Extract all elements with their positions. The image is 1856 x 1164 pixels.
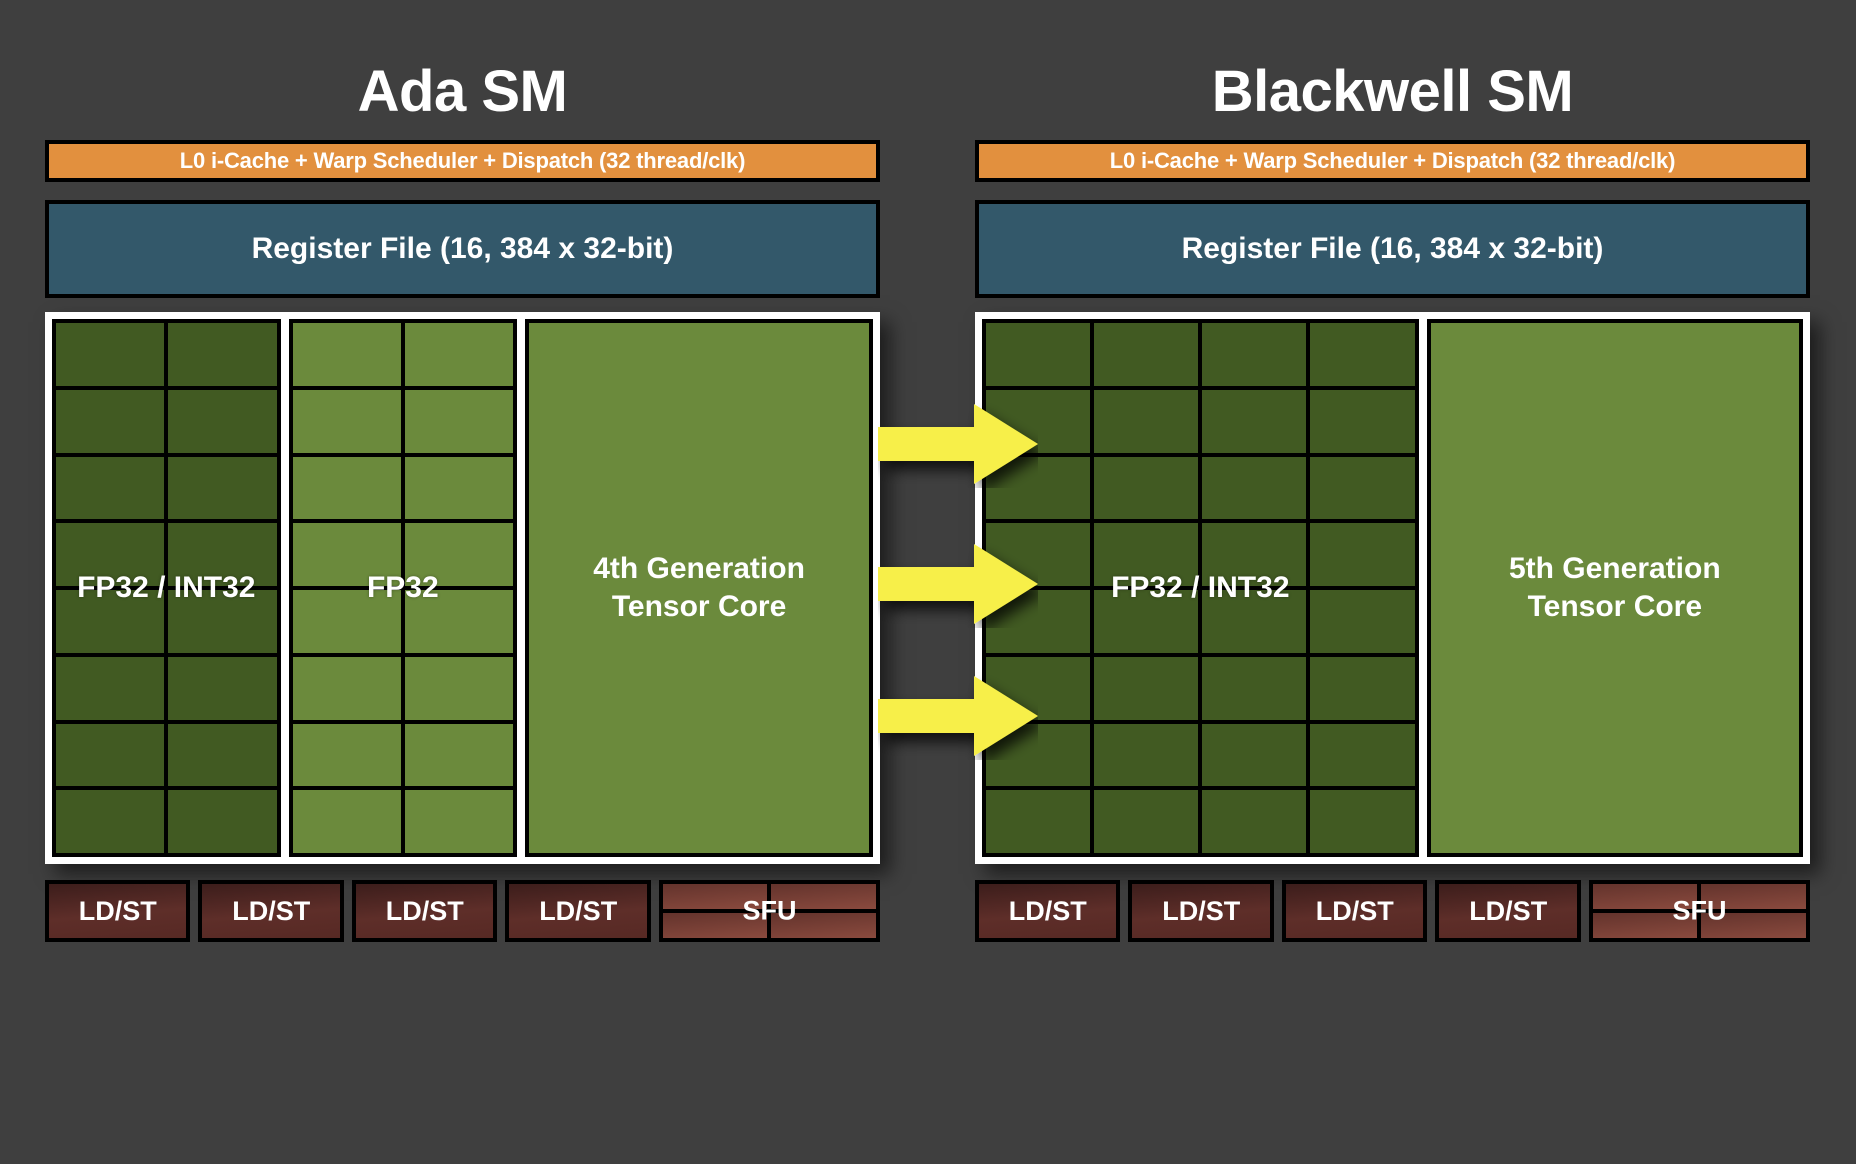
core-container-ada: FP32 / INT32 FP32 4th Generation Tensor … [45,312,880,864]
page-title-blackwell-sm: Blackwell SM [975,58,1810,125]
core-cell [405,390,513,453]
ldst-unit-blackwell-4-label: LD/ST [1469,896,1547,927]
core-cell [405,590,513,653]
tensor-core-blackwell-label-line2: Tensor Core [1528,590,1702,623]
core-cell [1094,457,1198,520]
core-cell [293,724,401,787]
ldst-unit-blackwell-4: LD/ST [1435,880,1580,942]
tensor-core-ada-label-line2: Tensor Core [612,590,786,623]
core-cell [1310,657,1414,720]
core-grid-fp32-int32-blackwell [982,319,1419,857]
core-cell [405,457,513,520]
core-cell [1202,724,1306,787]
core-cell [168,790,276,853]
core-cell [56,790,164,853]
transition-arrow-icon [878,540,1038,628]
ldst-unit-blackwell-3-label: LD/ST [1316,896,1394,927]
core-cell [1310,457,1414,520]
core-cell [168,590,276,653]
ldst-unit-ada-4-label: LD/ST [539,896,617,927]
core-cell [1202,323,1306,386]
transition-arrow-icon [878,400,1038,488]
core-cell [405,790,513,853]
core-cell [168,390,276,453]
register-file-ada-label: Register File (16, 384 x 32-bit) [252,232,674,266]
sfu-cell [1593,884,1698,909]
register-file-blackwell-label: Register File (16, 384 x 32-bit) [1182,232,1604,266]
register-file-ada: Register File (16, 384 x 32-bit) [45,200,880,298]
core-container-blackwell: FP32 / INT32 5th Generation Tensor Core [975,312,1810,864]
core-cell [56,657,164,720]
core-grid-fp32-ada [289,319,518,857]
tensor-core-ada: 4th Generation Tensor Core [525,319,873,857]
core-cell [168,657,276,720]
register-file-blackwell: Register File (16, 384 x 32-bit) [975,200,1810,298]
core-cell [56,323,164,386]
core-cell [293,790,401,853]
sfu-unit-blackwell: SFU [1589,880,1810,942]
core-cell [168,457,276,520]
ldst-unit-ada-4: LD/ST [505,880,650,942]
ldst-unit-blackwell-3: LD/ST [1282,880,1427,942]
scheduler-bar-ada: L0 i-Cache + Warp Scheduler + Dispatch (… [45,140,880,182]
panel-ada-sm: L0 i-Cache + Warp Scheduler + Dispatch (… [45,140,880,940]
scheduler-bar-ada-label: L0 i-Cache + Warp Scheduler + Dispatch (… [180,148,745,174]
core-cell [1094,590,1198,653]
core-cell [56,457,164,520]
core-cell [1094,323,1198,386]
core-cell [1202,457,1306,520]
core-cell [56,390,164,453]
core-cell [1094,724,1198,787]
ldst-unit-ada-1: LD/ST [45,880,190,942]
core-cell [293,457,401,520]
core-block-fp32-int32-ada: FP32 / INT32 [52,319,281,857]
core-cell [405,657,513,720]
core-cell [1094,790,1198,853]
core-cell [56,724,164,787]
ldst-unit-blackwell-2: LD/ST [1128,880,1273,942]
sfu-cell [771,913,876,938]
tensor-core-blackwell-label: 5th Generation Tensor Core [1509,550,1721,627]
sfu-cell [1701,884,1806,909]
core-cell [405,323,513,386]
core-cell [405,724,513,787]
page-title-ada-sm: Ada SM [45,58,880,125]
tensor-core-ada-label-line1: 4th Generation [593,552,805,585]
tensor-core-ada-label: 4th Generation Tensor Core [593,550,805,627]
core-cell [986,790,1090,853]
core-cell [1310,323,1414,386]
ldst-unit-blackwell-1-label: LD/ST [1009,896,1087,927]
core-cell [168,724,276,787]
core-cell [1094,523,1198,586]
core-cell [168,523,276,586]
ldst-unit-ada-3: LD/ST [352,880,497,942]
core-cell [986,323,1090,386]
core-cell [1310,724,1414,787]
core-cell [56,590,164,653]
core-block-fp32-int32-blackwell: FP32 / INT32 [982,319,1419,857]
tensor-core-blackwell: 5th Generation Tensor Core [1427,319,1803,857]
core-cell [56,523,164,586]
sfu-cell [663,913,768,938]
ldst-unit-ada-2: LD/ST [198,880,343,942]
core-grid-fp32-int32-ada [52,319,281,857]
core-cell [1310,590,1414,653]
ldst-unit-blackwell-1: LD/ST [975,880,1120,942]
ldst-unit-ada-1-label: LD/ST [79,896,157,927]
core-cell [1310,390,1414,453]
sfu-cell [1701,913,1806,938]
core-cell [293,590,401,653]
ldst-unit-ada-3-label: LD/ST [386,896,464,927]
core-cell [168,323,276,386]
sfu-cell [1593,913,1698,938]
tensor-core-blackwell-label-line1: 5th Generation [1509,552,1721,585]
core-cell [1202,523,1306,586]
core-cell [1094,390,1198,453]
panel-blackwell-sm: L0 i-Cache + Warp Scheduler + Dispatch (… [975,140,1810,940]
core-cell [293,323,401,386]
diagram-canvas: Ada SM Blackwell SM L0 i-Cache + Warp Sc… [0,0,1856,1164]
core-block-fp32-ada: FP32 [289,319,518,857]
core-cell [293,390,401,453]
ldst-unit-blackwell-2-label: LD/ST [1162,896,1240,927]
core-cell [1202,590,1306,653]
core-cell [293,523,401,586]
core-cell [1202,390,1306,453]
bottom-units-row-ada: LD/ST LD/ST LD/ST LD/ST SFU [45,880,880,942]
core-cell [1310,523,1414,586]
core-cell [1202,657,1306,720]
scheduler-bar-blackwell: L0 i-Cache + Warp Scheduler + Dispatch (… [975,140,1810,182]
sfu-unit-ada: SFU [659,880,880,942]
scheduler-bar-blackwell-label: L0 i-Cache + Warp Scheduler + Dispatch (… [1110,148,1675,174]
sfu-cell [663,884,768,909]
core-cell [1310,790,1414,853]
bottom-units-row-blackwell: LD/ST LD/ST LD/ST LD/ST SFU [975,880,1810,942]
core-cell [1094,657,1198,720]
ldst-unit-ada-2-label: LD/ST [232,896,310,927]
core-cell [405,523,513,586]
core-cell [1202,790,1306,853]
sfu-cell [771,884,876,909]
core-cell [293,657,401,720]
transition-arrow-icon [878,672,1038,760]
